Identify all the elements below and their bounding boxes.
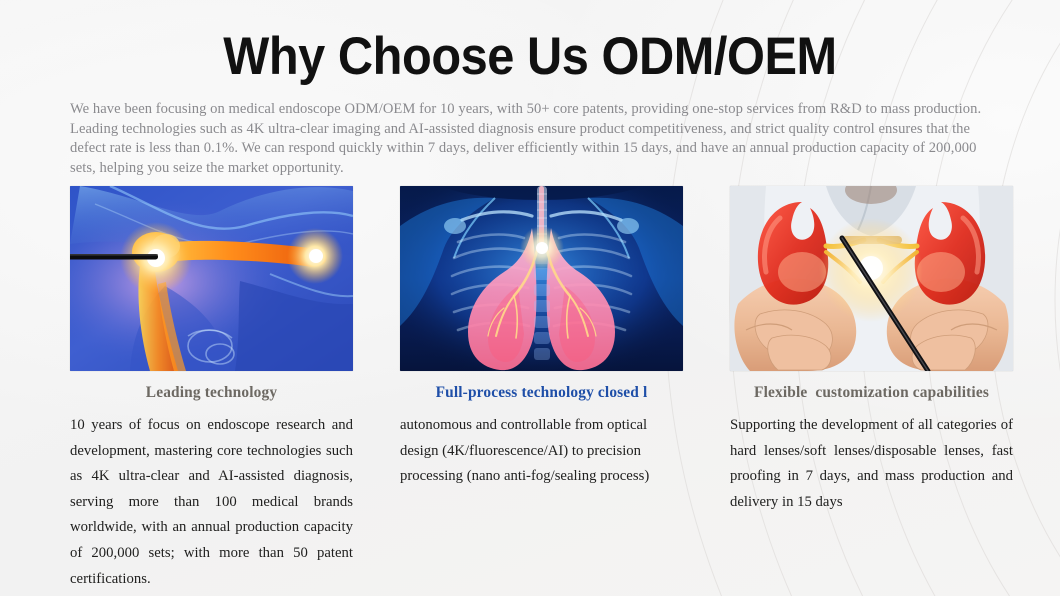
- feature-cards-row: Leading technology 10 years of focus on …: [70, 186, 994, 592]
- lungs-bronchoscopy-illustration: [400, 186, 683, 371]
- intro-paragraph: We have been focusing on medical endosco…: [70, 100, 990, 178]
- knee-joint-endoscopy-illustration: [70, 186, 353, 371]
- page-title: Why Choose Us ODM/OEM: [42, 26, 1017, 88]
- card-body-text: 10 years of focus on endoscope research …: [70, 413, 353, 592]
- card-heading: Leading technology: [70, 383, 353, 403]
- feature-card: Full-process technology closed l autonom…: [400, 186, 683, 490]
- card-heading: Full-process technology closed l: [400, 383, 683, 403]
- card-body-text: Supporting the development of all catego…: [730, 413, 1013, 515]
- feature-card: Leading technology 10 years of focus on …: [70, 186, 353, 592]
- card-body-text: autonomous and controllable from optical…: [400, 413, 683, 490]
- kidneys-in-hands-illustration: [730, 186, 1013, 371]
- slide-root: Why Choose Us ODM/OEM We have been focus…: [0, 0, 1060, 596]
- card-heading: Flexible customization capabilities: [730, 383, 1013, 403]
- feature-card: Flexible customization capabilities Supp…: [730, 186, 1013, 515]
